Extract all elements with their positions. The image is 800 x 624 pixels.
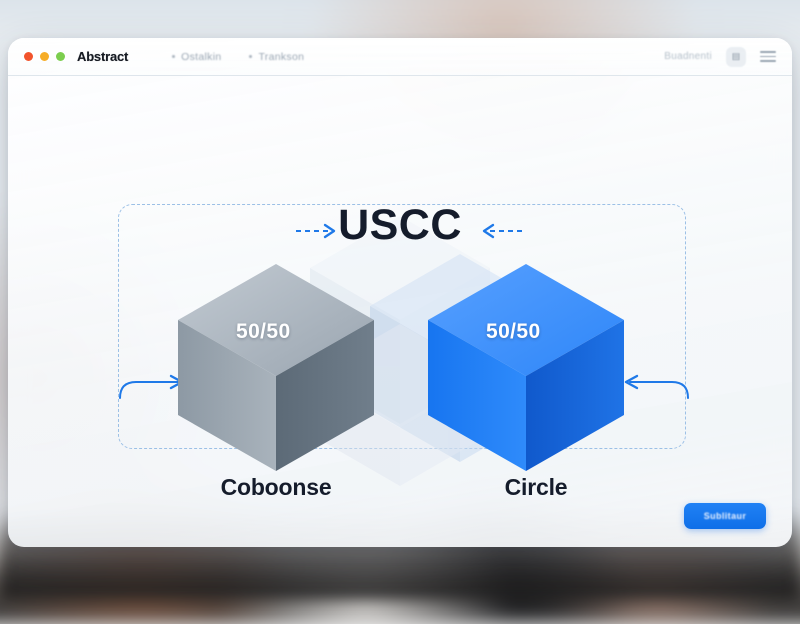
browser-window: Abstract Ostalkin Trankson Buadnenti ▤ bbox=[8, 38, 792, 547]
left-cube-label: 50/50 bbox=[236, 320, 291, 344]
submit-button[interactable]: Sublitaur bbox=[684, 503, 766, 529]
brand-label: Abstract bbox=[77, 49, 128, 64]
nav-item-2-label: Trankson bbox=[258, 51, 304, 63]
panel-icon: ▤ bbox=[732, 51, 741, 62]
traffic-light-controls bbox=[24, 52, 65, 61]
left-cube-caption: Coboonse bbox=[148, 474, 404, 501]
bullet-icon bbox=[249, 55, 252, 58]
primary-nav: Ostalkin Trankson bbox=[172, 51, 304, 63]
right-cube-caption: Circle bbox=[408, 474, 664, 501]
minimize-window-button[interactable] bbox=[40, 52, 49, 61]
panel-icon-button[interactable]: ▤ bbox=[726, 47, 746, 67]
nav-item-1-label: Ostalkin bbox=[181, 51, 221, 63]
window-titlebar: Abstract Ostalkin Trankson Buadnenti ▤ bbox=[8, 38, 792, 76]
nav-item-1[interactable]: Ostalkin bbox=[172, 51, 221, 63]
submit-button-label: Sublitaur bbox=[704, 511, 747, 521]
maximize-window-button[interactable] bbox=[56, 52, 65, 61]
diagram-canvas: 50/50 50/50 USCC Coboonse Circle Sublita… bbox=[8, 76, 792, 547]
titlebar-link[interactable]: Buadnenti bbox=[664, 51, 712, 62]
right-cube-label: 50/50 bbox=[486, 320, 541, 344]
diagram-title: USCC bbox=[8, 204, 792, 247]
close-window-button[interactable] bbox=[24, 52, 33, 61]
bullet-icon bbox=[172, 55, 175, 58]
titlebar-right-group: Buadnenti ▤ bbox=[664, 47, 776, 67]
nav-item-2[interactable]: Trankson bbox=[249, 51, 304, 63]
hamburger-menu-icon[interactable] bbox=[760, 51, 776, 62]
